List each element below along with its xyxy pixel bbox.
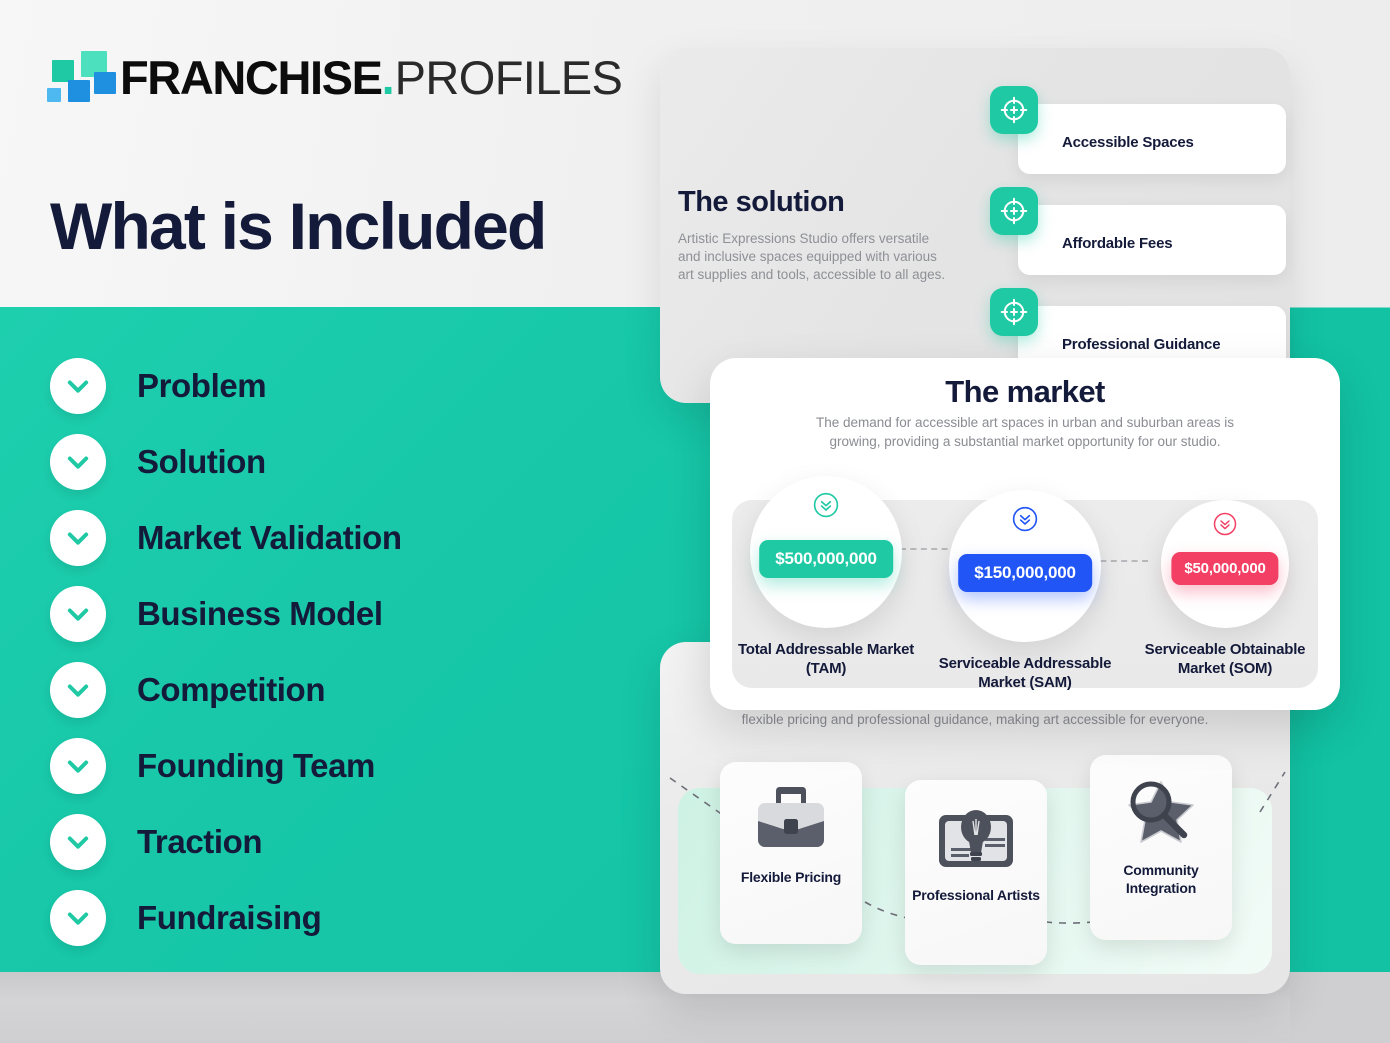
solution-feature-row[interactable]: Affordable Fees bbox=[990, 187, 1290, 275]
market-segment-caption: Total Addressable Market (TAM) bbox=[726, 640, 926, 678]
briefcase-icon bbox=[750, 776, 832, 862]
list-item-label: Fundraising bbox=[137, 899, 321, 937]
list-item-label: Problem bbox=[137, 367, 266, 405]
market-segment-bubble: $500,000,000 bbox=[750, 476, 902, 628]
brand-name-bold: FRANCHISE bbox=[120, 50, 382, 105]
list-item-label: Traction bbox=[137, 823, 262, 861]
market-segment-tam[interactable]: $500,000,000 Total Addressable Market (T… bbox=[726, 476, 926, 678]
feature-card-label: Flexible Pricing bbox=[741, 868, 841, 886]
list-item-label: Competition bbox=[137, 671, 325, 709]
lightbulb-board-icon bbox=[935, 794, 1017, 880]
list-item-label: Founding Team bbox=[137, 747, 375, 785]
solution-feature-row[interactable]: Accessible Spaces bbox=[990, 86, 1290, 174]
solution-feature-label: Professional Guidance bbox=[1062, 336, 1282, 353]
double-chevron-down-icon bbox=[1213, 512, 1237, 541]
chevron-down-icon bbox=[50, 434, 106, 490]
list-item-problem[interactable]: Problem bbox=[50, 348, 610, 424]
market-segment-value: $150,000,000 bbox=[958, 554, 1092, 592]
market-segment-bubble: $50,000,000 bbox=[1161, 500, 1289, 628]
chevron-down-icon bbox=[50, 890, 106, 946]
market-segment-value: $50,000,000 bbox=[1171, 552, 1278, 585]
market-segment-bubble: $150,000,000 bbox=[949, 490, 1101, 642]
brand-logo[interactable]: FRANCHISE . PROFILES bbox=[46, 46, 546, 108]
list-item-founding-team[interactable]: Founding Team bbox=[50, 728, 610, 804]
chevron-down-icon bbox=[50, 358, 106, 414]
solution-card-description: Artistic Expressions Studio offers versa… bbox=[678, 230, 950, 284]
solution-feature-label: Affordable Fees bbox=[1062, 235, 1282, 252]
solution-card-title: The solution bbox=[678, 186, 844, 219]
target-icon bbox=[990, 288, 1038, 336]
included-sections-list: Problem Solution Market Validation Busin… bbox=[50, 348, 610, 956]
list-item-label: Solution bbox=[137, 443, 266, 481]
double-chevron-down-icon bbox=[1012, 506, 1038, 537]
list-item-traction[interactable]: Traction bbox=[50, 804, 610, 880]
list-item-label: Market Validation bbox=[137, 519, 402, 557]
market-card-title: The market bbox=[710, 374, 1340, 410]
features-list: Flexible Pricing Professional bbox=[660, 750, 1290, 980]
list-item-competition[interactable]: Competition bbox=[50, 652, 610, 728]
features-card-description: flexible pricing and professional guidan… bbox=[660, 710, 1290, 729]
market-card-description: The demand for accessible art spaces in … bbox=[805, 414, 1245, 451]
market-segments: $500,000,000 Total Addressable Market (T… bbox=[710, 476, 1340, 706]
chevron-down-icon bbox=[50, 586, 106, 642]
target-icon bbox=[990, 187, 1038, 235]
chevron-down-icon bbox=[50, 814, 106, 870]
brand-wordmark: FRANCHISE . PROFILES bbox=[120, 46, 622, 108]
chevron-down-icon bbox=[50, 738, 106, 794]
list-item-business-model[interactable]: Business Model bbox=[50, 576, 610, 652]
chevron-down-icon bbox=[50, 510, 106, 566]
list-item-market-validation[interactable]: Market Validation bbox=[50, 500, 610, 576]
target-icon bbox=[990, 86, 1038, 134]
market-card[interactable]: The market The demand for accessible art… bbox=[710, 358, 1340, 710]
logo-squares-icon bbox=[46, 50, 112, 102]
double-chevron-down-icon bbox=[813, 492, 839, 523]
feature-card-community-integration[interactable]: Community Integration bbox=[1090, 755, 1232, 940]
brand-name-dot: . bbox=[382, 50, 395, 105]
list-item-solution[interactable]: Solution bbox=[50, 424, 610, 500]
feature-card-flexible-pricing[interactable]: Flexible Pricing bbox=[720, 762, 862, 944]
list-item-fundraising[interactable]: Fundraising bbox=[50, 880, 610, 956]
star-magnifier-icon bbox=[1120, 769, 1202, 855]
market-segment-caption: Serviceable Obtainable Market (SOM) bbox=[1125, 640, 1325, 678]
solution-feature-label: Accessible Spaces bbox=[1062, 134, 1282, 151]
solution-card[interactable]: The solution Artistic Expressions Studio… bbox=[660, 48, 1290, 403]
market-segment-caption: Serviceable Addressable Market (SAM) bbox=[925, 654, 1125, 692]
market-segment-som[interactable]: $50,000,000 Serviceable Obtainable Marke… bbox=[1125, 500, 1325, 678]
feature-card-label: Community Integration bbox=[1090, 861, 1232, 897]
list-item-label: Business Model bbox=[137, 595, 383, 633]
feature-card-label: Professional Artists bbox=[912, 886, 1040, 904]
market-segment-value: $500,000,000 bbox=[759, 540, 893, 578]
chevron-down-icon bbox=[50, 662, 106, 718]
brand-name-light: PROFILES bbox=[395, 50, 623, 105]
page-title: What is Included bbox=[50, 188, 546, 264]
market-segment-sam[interactable]: $150,000,000 Serviceable Addressable Mar… bbox=[925, 490, 1125, 692]
feature-card-professional-artists[interactable]: Professional Artists bbox=[905, 780, 1047, 965]
